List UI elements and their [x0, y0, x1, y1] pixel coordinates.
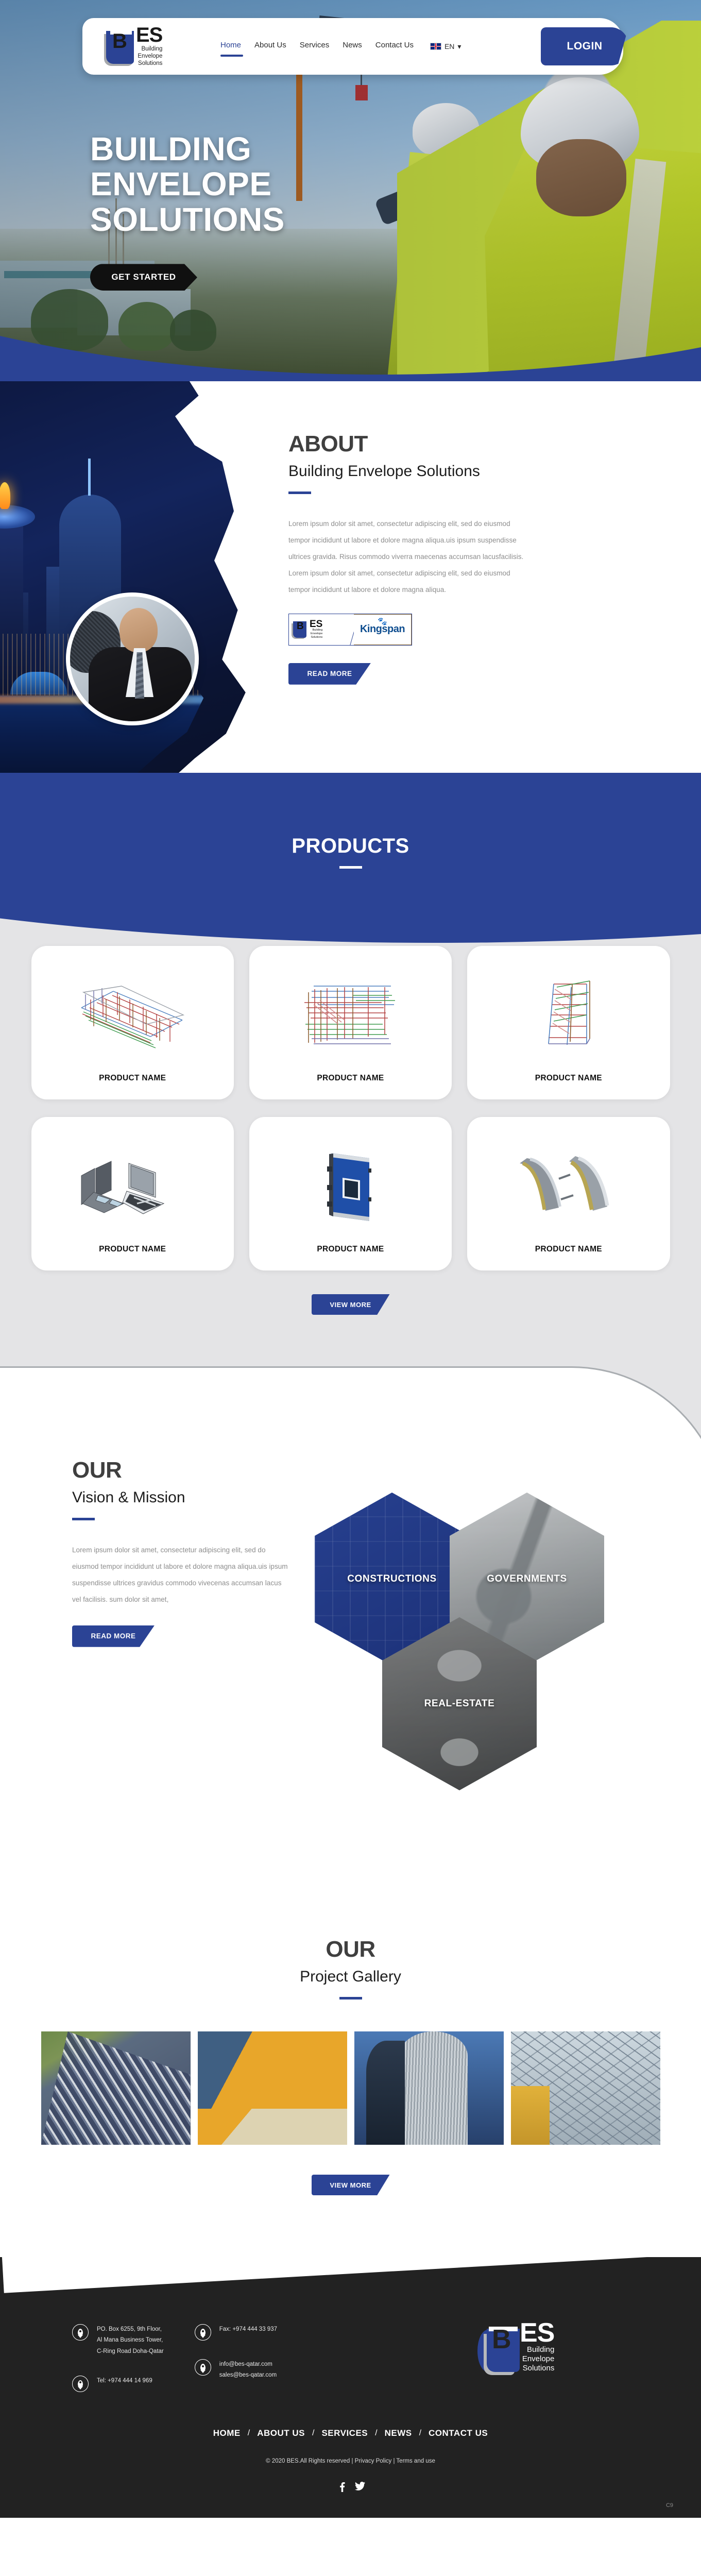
- contact-emails: info@bes-qatar.com sales@bes-qatar.com: [195, 2359, 277, 2381]
- about-rule: [288, 492, 311, 494]
- address-line-1: PO. Box 6255, 9th Floor,: [97, 2324, 164, 2335]
- footer-nav-news[interactable]: NEWS: [385, 2428, 412, 2438]
- product-image: [43, 1128, 223, 1245]
- footer-logo-line3: Solutions: [520, 2364, 554, 2373]
- hero-title: BUILDING ENVELOPE SOLUTIONS: [90, 131, 285, 237]
- small-logo-es: ES: [310, 620, 322, 629]
- footer-contacts: PO. Box 6255, 9th Floor, Al Mana Busines…: [72, 2319, 480, 2392]
- language-code: EN: [444, 42, 454, 50]
- small-logo-letter-b: B: [297, 621, 304, 631]
- gallery-eyebrow: OUR: [0, 1938, 701, 1961]
- kingspan-logo: 🐾 Kingspan: [354, 614, 412, 645]
- footer-copyright[interactable]: © 2020 BES.All Rights reserved | Privacy…: [0, 2458, 701, 2464]
- brand-logo[interactable]: B ES Building Envelope Solutions: [104, 26, 207, 67]
- about-title: Building Envelope Solutions: [288, 463, 628, 480]
- email-sales[interactable]: sales@bes-qatar.com: [219, 2370, 277, 2381]
- product-image: [43, 957, 223, 1074]
- products-title: PRODUCTS: [0, 835, 701, 858]
- vision-read-more-button[interactable]: READ MORE: [72, 1625, 155, 1647]
- facebook-icon[interactable]: [337, 2482, 347, 2492]
- products-header: PRODUCTS: [0, 773, 701, 869]
- footer-logo-line2: Envelope: [520, 2354, 554, 2364]
- hero-content: BUILDING ENVELOPE SOLUTIONS GET STARTED: [90, 131, 285, 291]
- about-eyebrow: ABOUT: [288, 433, 628, 455]
- address-line-3: C-Ring Road Doha-Qatar: [97, 2346, 164, 2357]
- about-content: ABOUT Building Envelope Solutions Lorem …: [288, 433, 628, 685]
- logo-letter-b: B: [112, 31, 127, 52]
- product-card[interactable]: PRODUCT NAME: [249, 1117, 452, 1270]
- about-section: ABOUT Building Envelope Solutions Lorem …: [0, 381, 701, 773]
- product-image: [261, 1128, 440, 1245]
- uk-flag-icon: [430, 43, 441, 50]
- footer-diagonal-edge: [0, 2257, 701, 2319]
- footer-nav-contact-us[interactable]: CONTACT US: [429, 2428, 488, 2438]
- hexagon-label: CONSTRUCTIONS: [347, 1573, 437, 1585]
- hero-bottom-wave: [0, 336, 701, 381]
- page-watermark: C9: [666, 2502, 673, 2509]
- about-paragraph: Lorem ipsum dolor sit amet, consectetur …: [288, 516, 531, 598]
- bes-logo-mark: B: [104, 30, 141, 67]
- hero-title-line-3: SOLUTIONS: [90, 202, 285, 237]
- blue-cold-room-door-icon: [291, 1148, 409, 1225]
- footer-navigation: HOME / ABOUT US / SERVICES / NEWS / CONT…: [0, 2428, 701, 2518]
- smoke-vent-hatch-icon: [73, 1148, 192, 1225]
- products-grid: PRODUCT NAME: [31, 946, 670, 1270]
- hexagon-label: GOVERNMENTS: [487, 1573, 567, 1585]
- product-card[interactable]: PRODUCT NAME: [31, 1117, 234, 1270]
- nav-item-services[interactable]: Services: [300, 41, 330, 53]
- location-pin-icon: [72, 2376, 89, 2392]
- steel-frame-structure-3d-icon: [73, 977, 192, 1054]
- location-pin-icon: [195, 2324, 211, 2341]
- footer-logo-letter-b: B: [492, 2329, 511, 2351]
- vision-rule: [72, 1518, 95, 1520]
- product-name: PRODUCT NAME: [99, 1245, 166, 1259]
- footer-logo-mark: B: [480, 2327, 524, 2373]
- gallery-rule: [339, 1997, 362, 1999]
- email-info[interactable]: info@bes-qatar.com: [219, 2359, 277, 2370]
- vision-eyebrow: OUR: [72, 1459, 288, 1482]
- products-rule: [339, 866, 362, 869]
- nav-item-news[interactable]: News: [343, 41, 362, 53]
- footer-nav-home[interactable]: HOME: [213, 2428, 241, 2438]
- product-name: PRODUCT NAME: [535, 1245, 602, 1259]
- gallery-view-more-button[interactable]: VIEW MORE: [312, 2175, 390, 2195]
- footer-nav-separator: /: [312, 2429, 314, 2438]
- sectors-hexagons: CONSTRUCTIONS GOVERNMENTS REAL-ESTATE: [315, 1472, 634, 1812]
- footer-nav-services[interactable]: SERVICES: [321, 2428, 368, 2438]
- products-view-more-button[interactable]: VIEW MORE: [312, 1294, 390, 1315]
- contact-telephone: Tel: +974 444 14 969: [72, 2376, 164, 2392]
- footer-nav-separator: /: [419, 2429, 421, 2438]
- products-section: PRODUCTS: [0, 773, 701, 1356]
- steel-mezzanine-3d-icon: [291, 977, 409, 1054]
- navbar-wrapper: B ES Building Envelope Solutions Home Ab…: [82, 18, 623, 75]
- product-name: PRODUCT NAME: [535, 1074, 602, 1088]
- contact-address: PO. Box 6255, 9th Floor, Al Mana Busines…: [72, 2324, 164, 2357]
- hero-section: B ES Building Envelope Solutions Home Ab…: [0, 0, 701, 381]
- product-card[interactable]: PRODUCT NAME: [31, 946, 234, 1099]
- about-portrait: [66, 592, 199, 725]
- gallery-item-solar-panel-roof[interactable]: [41, 2031, 191, 2145]
- gallery-title: Project Gallery: [0, 1968, 701, 1986]
- partner-logos: B ES Building Envelope Solutions 🐾 Kings…: [288, 614, 412, 646]
- vision-title: Vision & Mission: [72, 1489, 288, 1506]
- hexagon-label: REAL-ESTATE: [424, 1698, 495, 1709]
- product-card[interactable]: PRODUCT NAME: [467, 946, 670, 1099]
- nav-item-home[interactable]: Home: [220, 41, 241, 53]
- login-button[interactable]: LOGIN: [541, 27, 628, 65]
- gallery-grid: [0, 2031, 701, 2145]
- main-navbar: B ES Building Envelope Solutions Home Ab…: [82, 18, 623, 75]
- telephone-value[interactable]: Tel: +974 444 14 969: [97, 2376, 152, 2386]
- small-logo-line2: Envelope: [310, 632, 322, 636]
- vision-mission-section: OUR Vision & Mission Lorem ipsum dolor s…: [0, 1356, 701, 1892]
- footer-nav-separator: /: [375, 2429, 377, 2438]
- vision-paragraph: Lorem ipsum dolor sit amet, consectetur …: [72, 1542, 288, 1608]
- about-read-more-button[interactable]: READ MORE: [288, 663, 371, 685]
- hero-title-line-1: BUILDING: [90, 131, 285, 166]
- site-footer: PO. Box 6255, 9th Floor, Al Mana Busines…: [0, 2257, 701, 2518]
- bes-small-logo: B ES Building Envelope Solutions: [289, 614, 347, 645]
- footer-socials: [0, 2482, 701, 2518]
- fax-value: Fax: +974 444 33 937: [219, 2324, 277, 2335]
- product-name: PRODUCT NAME: [317, 1074, 384, 1088]
- product-image: [478, 957, 658, 1074]
- gallery-item-yellow-facade[interactable]: [198, 2031, 347, 2145]
- location-pin-icon: [72, 2324, 89, 2341]
- landing-page: B ES Building Envelope Solutions Home Ab…: [0, 0, 701, 2518]
- vision-content: OUR Vision & Mission Lorem ipsum dolor s…: [0, 1356, 288, 1647]
- language-selector[interactable]: EN ▾: [430, 42, 461, 51]
- product-image: [478, 1128, 658, 1245]
- contact-fax: Fax: +974 444 33 937: [195, 2324, 277, 2341]
- location-pin-icon: [195, 2359, 211, 2376]
- footer-brand-logo[interactable]: B ES Building Envelope Solutions: [480, 2319, 629, 2373]
- footer-logo-es: ES: [520, 2322, 554, 2344]
- nav-item-about-us[interactable]: About Us: [254, 41, 286, 53]
- product-card[interactable]: PRODUCT NAME: [249, 946, 452, 1099]
- twitter-icon[interactable]: [355, 2482, 364, 2492]
- get-started-button[interactable]: GET STARTED: [90, 264, 197, 291]
- product-card[interactable]: PRODUCT NAME: [467, 1117, 670, 1270]
- chevron-down-icon: ▾: [457, 42, 461, 51]
- lion-icon: 🐾: [378, 617, 387, 626]
- hero-title-line-2: ENVELOPE: [90, 166, 285, 201]
- product-name: PRODUCT NAME: [317, 1245, 384, 1259]
- gallery-item-curved-roof[interactable]: [354, 2031, 504, 2145]
- insulated-roof-panels-icon: [509, 1148, 628, 1225]
- footer-top-row: PO. Box 6255, 9th Floor, Al Mana Busines…: [0, 2319, 701, 2392]
- nav-item-contact-us[interactable]: Contact Us: [375, 41, 414, 53]
- project-gallery-section: OUR Project Gallery VIEW MORE: [0, 1892, 701, 2257]
- footer-nav-separator: /: [248, 2429, 250, 2438]
- gallery-item-space-frame[interactable]: [511, 2031, 660, 2145]
- product-image: [261, 957, 440, 1074]
- steel-tower-rack-3d-icon: [509, 977, 628, 1054]
- address-line-2: Al Mana Business Tower,: [97, 2335, 164, 2346]
- small-logo-line3: Solutions: [310, 636, 322, 639]
- footer-nav-about-us[interactable]: ABOUT US: [257, 2428, 305, 2438]
- product-name: PRODUCT NAME: [99, 1074, 166, 1088]
